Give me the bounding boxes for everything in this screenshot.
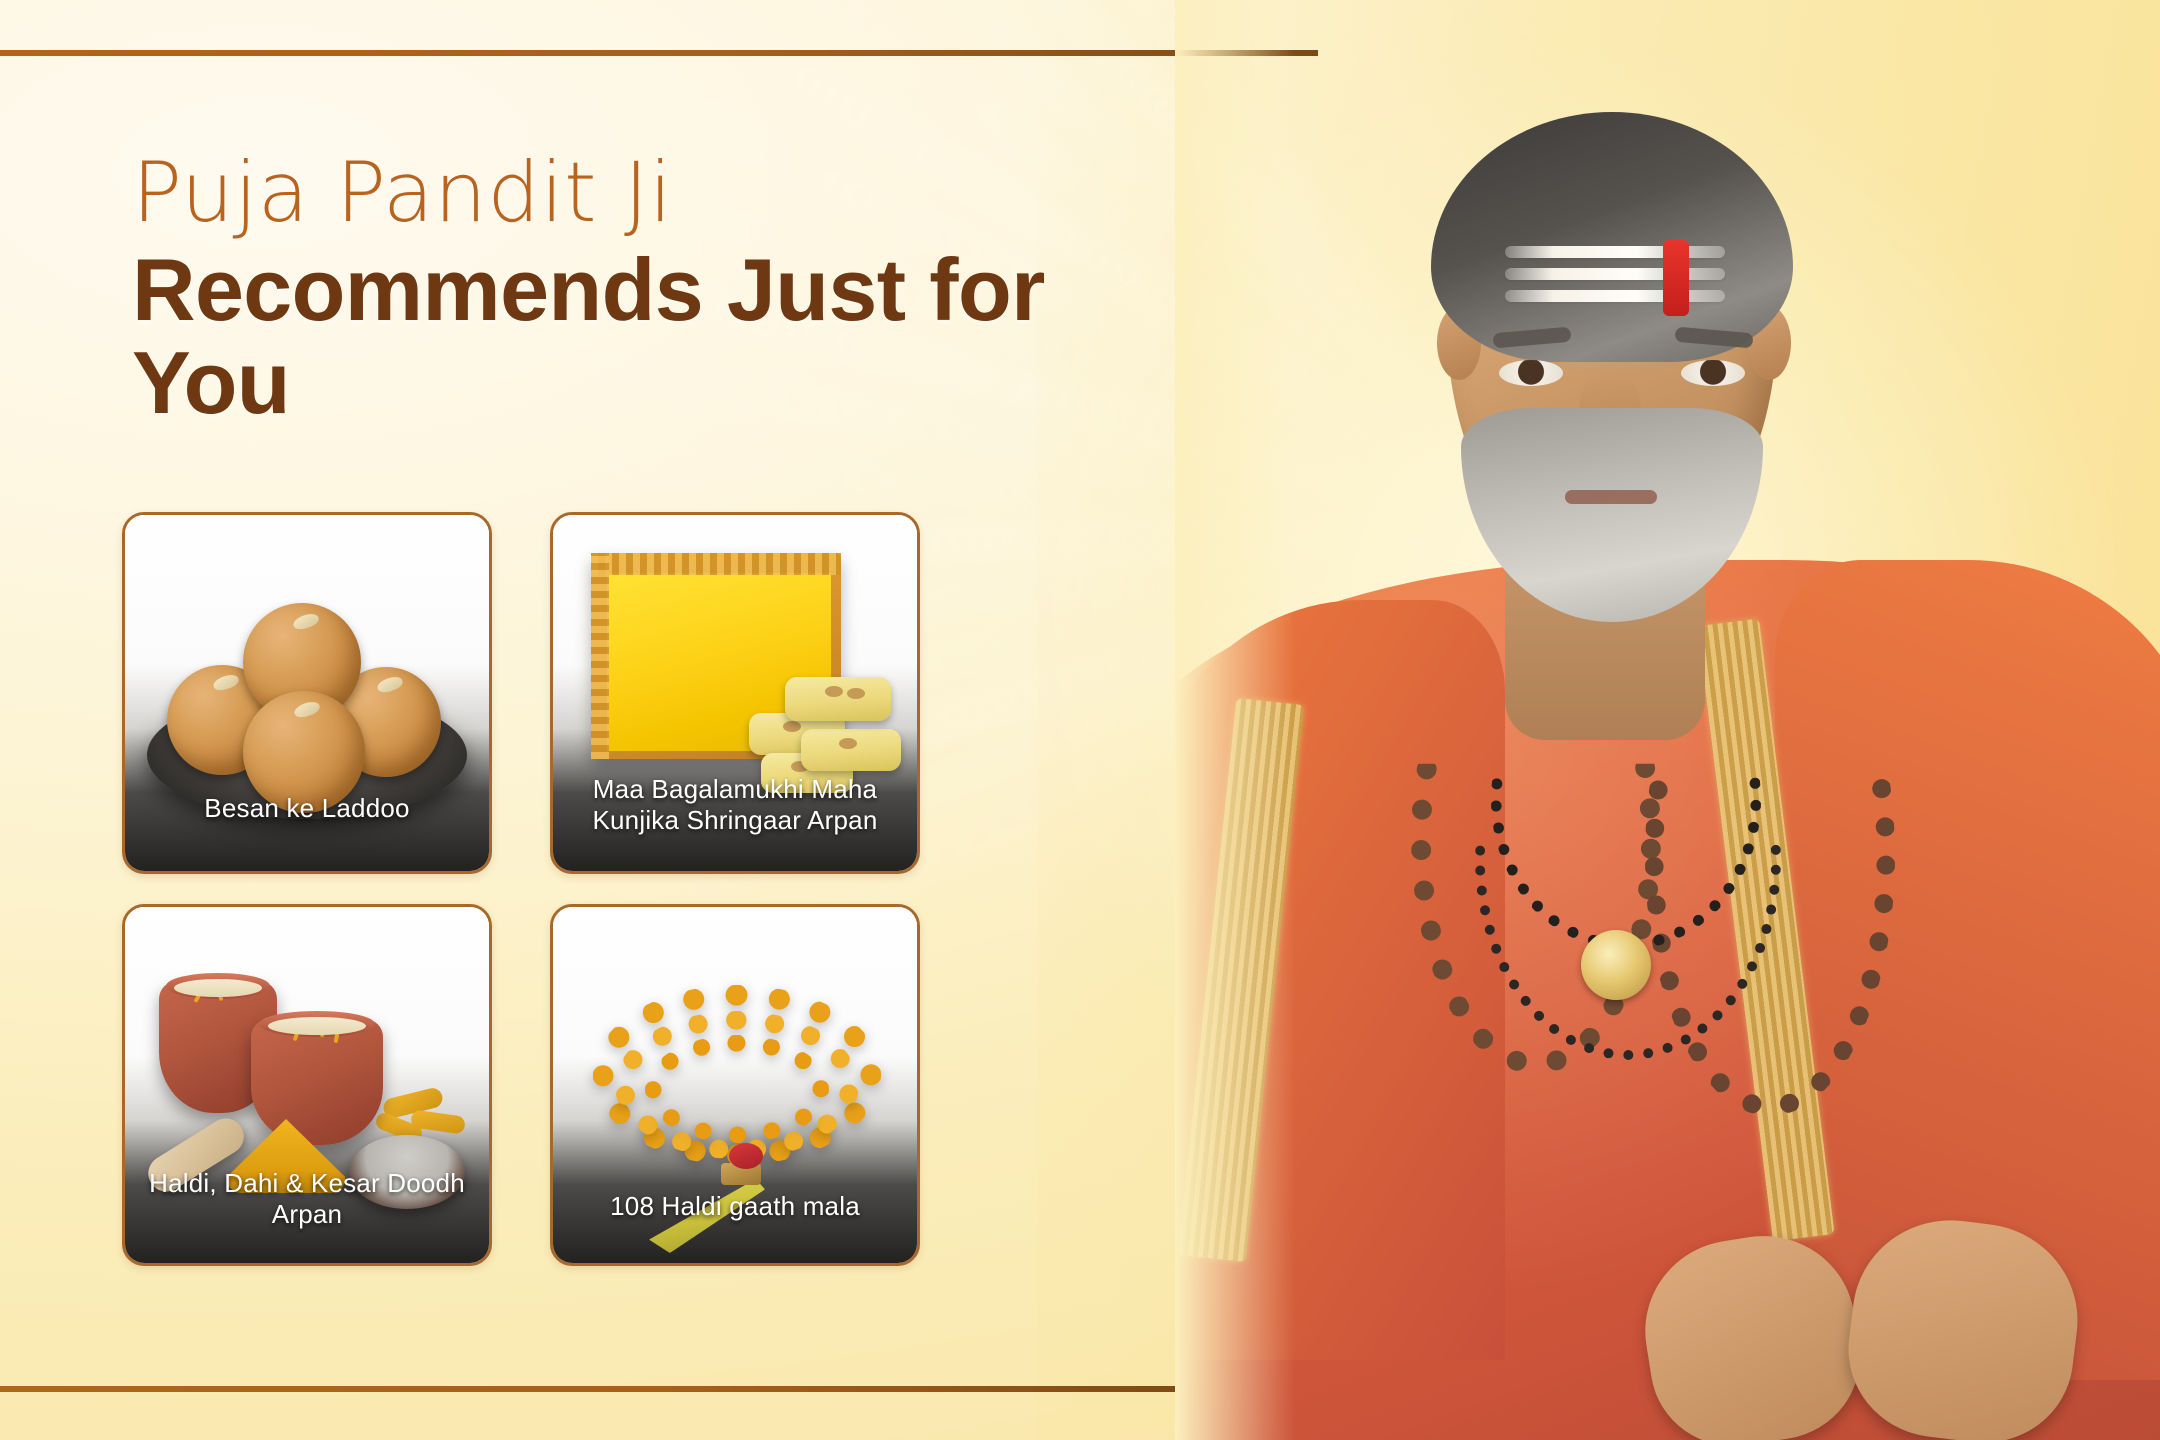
headline-line-1: Puja Pandit Ji xyxy=(132,150,1212,236)
tilak-line xyxy=(1505,246,1725,258)
tilak-line xyxy=(1505,290,1725,302)
gold-pendant xyxy=(1581,930,1651,1000)
frame-texture-top xyxy=(591,553,841,575)
product-card-haldi-dahi-kesar-doodh-arpan[interactable]: Haldi, Dahi & Kesar Doodh Arpan xyxy=(122,904,492,1266)
mouth xyxy=(1565,490,1657,504)
product-card-besan-ke-laddoo[interactable]: Besan ke Laddoo xyxy=(122,512,492,874)
eye-right xyxy=(1681,360,1745,386)
bottom-divider-rule xyxy=(0,1386,1205,1392)
hair xyxy=(1431,112,1793,362)
product-label: Besan ke Laddoo xyxy=(125,793,489,825)
headline-line-2: Recommends Just for You xyxy=(132,244,1212,429)
tilak-line xyxy=(1505,268,1725,280)
product-card-108-haldi-gaath-mala[interactable]: 108 Haldi gaath mala xyxy=(550,904,920,1266)
figure-edge-fade xyxy=(1175,0,1295,1440)
headline-block: Puja Pandit Ji Recommends Just for You xyxy=(132,150,1212,429)
recommended-products-grid: Besan ke Laddoo Maa Bagalamukhi Maha Kun… xyxy=(122,512,920,1266)
barfi-shape xyxy=(801,729,901,771)
pandit-portrait xyxy=(1175,0,2160,1440)
tripundra-tilak xyxy=(1505,246,1725,312)
clay-pot-shape xyxy=(251,1019,383,1145)
product-card-maa-bagalamukhi-shringaar-arpan[interactable]: Maa Bagalamukhi Maha Kunjika Shringaar A… xyxy=(550,512,920,874)
frame-texture-left xyxy=(591,553,609,759)
promo-banner: Puja Pandit Ji Recommends Just for You B… xyxy=(0,0,2160,1440)
mala-red-bead xyxy=(729,1143,763,1169)
mala-ring-inner xyxy=(645,1035,829,1143)
product-label: 108 Haldi gaath mala xyxy=(553,1191,917,1223)
product-label: Maa Bagalamukhi Maha Kunjika Shringaar A… xyxy=(553,774,917,837)
eye-left xyxy=(1499,360,1563,386)
red-tilak-mark xyxy=(1663,240,1689,316)
product-label: Haldi, Dahi & Kesar Doodh Arpan xyxy=(125,1168,489,1231)
top-divider-rule xyxy=(0,50,1318,56)
barfi-shape xyxy=(785,677,891,721)
